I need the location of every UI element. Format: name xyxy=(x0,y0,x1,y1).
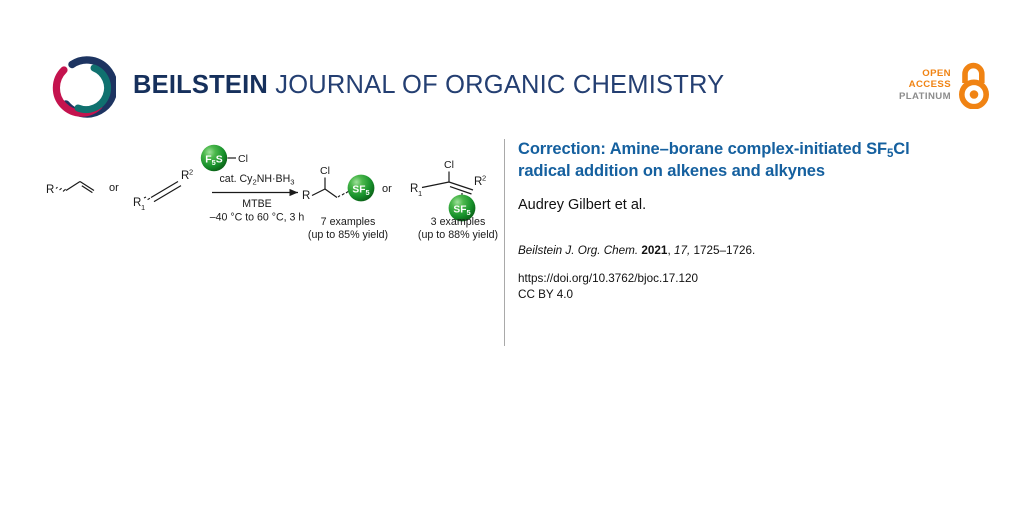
alkyne-r2-superscript: 2 xyxy=(189,168,193,177)
product2-caption-line1: 3 examples xyxy=(431,216,486,228)
alkene-r-label: R xyxy=(46,184,54,196)
product2-cl-label: Cl xyxy=(444,159,454,171)
temperature-label: –40 °C to 60 °C, 3 h xyxy=(210,212,305,224)
page-header: BEILSTEIN JOURNAL OF ORGANIC CHEMISTRY O… xyxy=(0,0,1024,130)
product2-r1-superscript: 1 xyxy=(418,189,422,198)
open-access-line-access: ACCESS xyxy=(909,79,951,91)
citation-journal: Beilstein J. Org. Chem. xyxy=(518,244,638,257)
reagent-chloride-label: Cl xyxy=(238,153,248,165)
product2-r2-superscript: 2 xyxy=(482,174,486,183)
open-access-line-open: OPEN xyxy=(922,68,951,80)
article-citation: Beilstein J. Org. Chem. 2021, 17, 1725–1… xyxy=(518,243,958,258)
catalyst-label: cat. Cy2NH·BH3 xyxy=(220,173,295,186)
open-access-badge: OPEN ACCESS PLATINUM xyxy=(899,56,992,114)
article-authors[interactable]: Audrey Gilbert et al. xyxy=(518,197,958,214)
open-access-words: OPEN ACCESS PLATINUM xyxy=(899,68,951,103)
product1-r-label: R xyxy=(302,190,310,202)
beilstein-spiral-logo-icon xyxy=(52,56,116,118)
substrate-or-label: or xyxy=(109,182,119,194)
alkyne-r1-superscript: 1 xyxy=(141,203,145,212)
article-doi-link[interactable]: https://doi.org/10.3762/bjoc.17.120 xyxy=(518,271,958,287)
journal-wordmark: BEILSTEIN JOURNAL OF ORGANIC CHEMISTRY xyxy=(133,71,724,100)
product2-caption-line2: (up to 88% yield) xyxy=(418,229,498,241)
product-or-label: or xyxy=(382,183,392,195)
product1-caption-line1: 7 examples xyxy=(321,216,376,228)
article-metadata: Correction: Amine–borane complex-initiat… xyxy=(518,140,958,303)
open-access-line-platinum: PLATINUM xyxy=(899,91,951,103)
article-title-part1: Correction: Amine–borane complex-initiat… xyxy=(518,140,887,158)
reaction-scheme-graphic: R or R 1 R xyxy=(30,135,500,260)
citation-comma-1: , xyxy=(667,244,670,257)
article-cover-page: BEILSTEIN JOURNAL OF ORGANIC CHEMISTRY O… xyxy=(0,0,1024,512)
solvent-label: MTBE xyxy=(242,198,271,210)
vertical-divider xyxy=(504,139,505,346)
product1-caption-line2: (up to 85% yield) xyxy=(308,229,388,241)
article-title[interactable]: Correction: Amine–borane complex-initiat… xyxy=(518,140,958,181)
brand-light: JOURNAL OF ORGANIC CHEMISTRY xyxy=(275,71,724,99)
brand-bold: BEILSTEIN xyxy=(133,71,268,99)
citation-comma-2: , xyxy=(687,244,690,257)
citation-pages: 1725–1726. xyxy=(693,244,755,257)
citation-year: 2021 xyxy=(641,244,667,257)
citation-volume: 17 xyxy=(674,244,687,257)
article-license: CC BY 4.0 xyxy=(518,287,958,303)
product1-cl-label: Cl xyxy=(320,165,330,177)
article-title-subscript: 5 xyxy=(887,148,893,160)
open-access-unlocked-padlock-icon xyxy=(956,61,992,109)
